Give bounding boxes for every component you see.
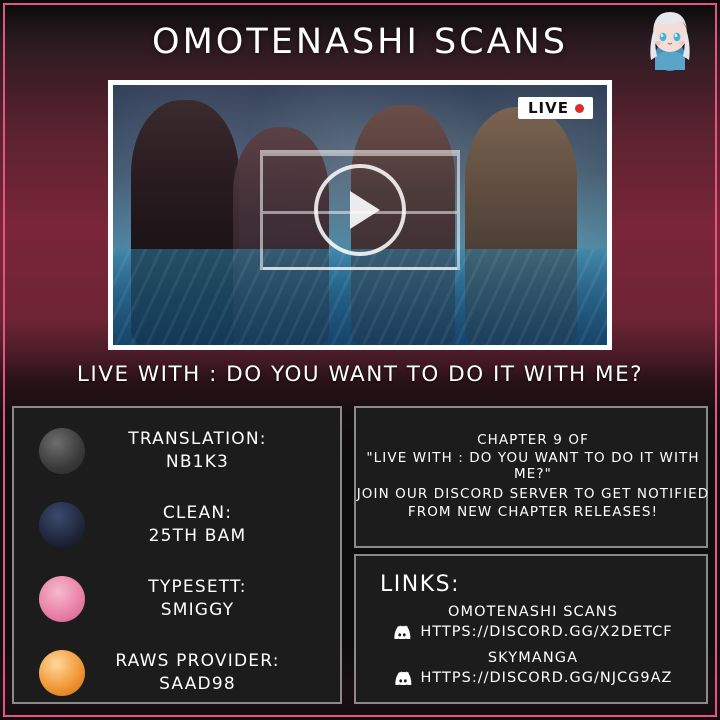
- avatar: [39, 576, 85, 622]
- credits-panel: TRANSLATION: NB1K3 CLEAN: 25TH BAM TYPES…: [12, 406, 342, 704]
- credit-row: TRANSLATION: NB1K3: [14, 414, 344, 488]
- credit-role: TYPESETT:: [85, 576, 310, 599]
- live-dot-icon: [575, 104, 584, 113]
- release-credits-page: OMOTENASHI SCANS: [0, 0, 720, 720]
- info-line-join-1: JOIN OUR DISCORD SERVER TO GET NOTIFIED: [356, 486, 710, 502]
- credit-row: TYPESETT: SMIGGY: [14, 562, 344, 636]
- credit-name: NB1K3: [85, 451, 310, 474]
- link-omotenashi-discord[interactable]: HTTPS://DISCORD.GG/X2DETCF: [356, 624, 710, 640]
- credit-row: RAWS PROVIDER: SAAD98: [14, 636, 344, 710]
- avatar: [39, 428, 85, 474]
- credit-name: SMIGGY: [85, 599, 310, 622]
- link-url-text: HTTPS://DISCORD.GG/X2DETCF: [420, 624, 672, 640]
- info-line-join-2: FROM NEW CHAPTER RELEASES!: [356, 504, 710, 520]
- credit-role: RAWS PROVIDER:: [85, 650, 310, 673]
- header: OMOTENASHI SCANS: [0, 0, 720, 78]
- credit-row: CLEAN: 25TH BAM: [14, 488, 344, 562]
- discord-icon: [394, 671, 412, 685]
- credit-name: 25TH BAM: [85, 525, 310, 548]
- info-line-chapter: CHAPTER 9 OF: [356, 432, 710, 448]
- links-heading: LINKS:: [380, 572, 460, 597]
- link-skymanga-discord[interactable]: HTTPS://DISCORD.GG/NJCG9AZ: [356, 670, 710, 686]
- page-title: OMOTENASHI SCANS: [0, 22, 720, 62]
- info-line-series: "LIVE WITH : DO YOU WANT TO DO IT WITH M…: [356, 450, 710, 482]
- chibi-girl-mascot-icon: [642, 10, 698, 72]
- credit-name: SAAD98: [85, 673, 310, 696]
- chapter-info-panel: CHAPTER 9 OF "LIVE WITH : DO YOU WANT TO…: [354, 406, 708, 548]
- links-panel: LINKS: OMOTENASHI SCANS HTTPS://DISCORD.…: [354, 554, 708, 704]
- cover-image: LIVE: [108, 80, 612, 350]
- series-title: LIVE WITH : DO YOU WANT TO DO IT WITH ME…: [0, 362, 720, 387]
- credit-role: CLEAN:: [85, 502, 310, 525]
- live-label: LIVE: [528, 99, 569, 117]
- live-badge: LIVE: [518, 97, 593, 119]
- link-label-omotenashi: OMOTENASHI SCANS: [356, 604, 710, 620]
- link-url-text: HTTPS://DISCORD.GG/NJCG9AZ: [421, 670, 673, 686]
- play-button-icon[interactable]: [314, 164, 406, 256]
- avatar: [39, 650, 85, 696]
- discord-icon: [393, 625, 411, 639]
- avatar: [39, 502, 85, 548]
- link-label-skymanga: SKYMANGA: [356, 650, 710, 666]
- credit-role: TRANSLATION:: [85, 428, 310, 451]
